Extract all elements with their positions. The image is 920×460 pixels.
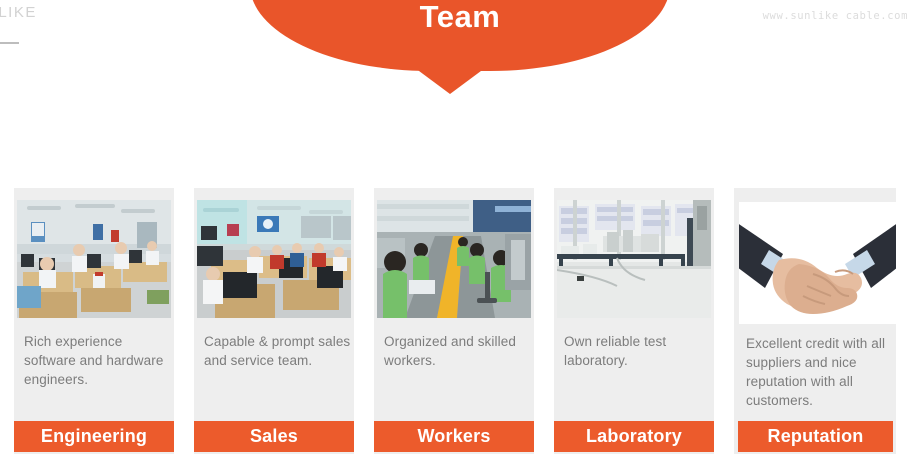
title-banner: Team xyxy=(250,0,670,71)
title-banner-tail-icon xyxy=(415,68,485,94)
team-slide: NLIKE www.sunlike cable.com Team xyxy=(0,0,920,460)
team-card-workers[interactable]: Organized and skilled workers. Workers xyxy=(374,188,534,454)
card-description: Capable & prompt sales and service team. xyxy=(204,332,356,370)
brand-watermark: NLIKE xyxy=(0,4,37,21)
card-description: Organized and skilled workers. xyxy=(384,332,536,370)
card-label-laboratory[interactable]: Laboratory xyxy=(554,421,714,452)
workers-production-line-photo xyxy=(377,200,531,318)
team-card-sales[interactable]: Capable & prompt sales and service team.… xyxy=(194,188,354,454)
card-label-workers[interactable]: Workers xyxy=(374,421,534,452)
team-card-row: Rich experience software and hardware en… xyxy=(14,188,920,454)
laboratory-photo xyxy=(557,200,711,318)
team-card-engineering[interactable]: Rich experience software and hardware en… xyxy=(14,188,174,454)
team-card-reputation[interactable]: Excellent credit with all suppliers and … xyxy=(734,188,896,454)
card-description: Own reliable test laboratory. xyxy=(564,332,716,370)
card-label-sales[interactable]: Sales xyxy=(194,421,354,452)
card-label-engineering[interactable]: Engineering xyxy=(14,421,174,452)
engineering-office-photo xyxy=(17,200,171,318)
site-url-watermark: www.sunlike cable.com xyxy=(763,10,908,22)
team-card-laboratory[interactable]: Own reliable test laboratory. Laboratory xyxy=(554,188,714,454)
sales-office-photo xyxy=(197,200,351,318)
card-label-reputation[interactable]: Reputation xyxy=(738,421,893,452)
page-title: Team xyxy=(250,0,670,71)
handshake-photo xyxy=(739,202,896,324)
card-description: Excellent credit with all suppliers and … xyxy=(746,334,902,410)
card-description: Rich experience software and hardware en… xyxy=(24,332,176,389)
brand-underline-rule xyxy=(0,42,19,44)
